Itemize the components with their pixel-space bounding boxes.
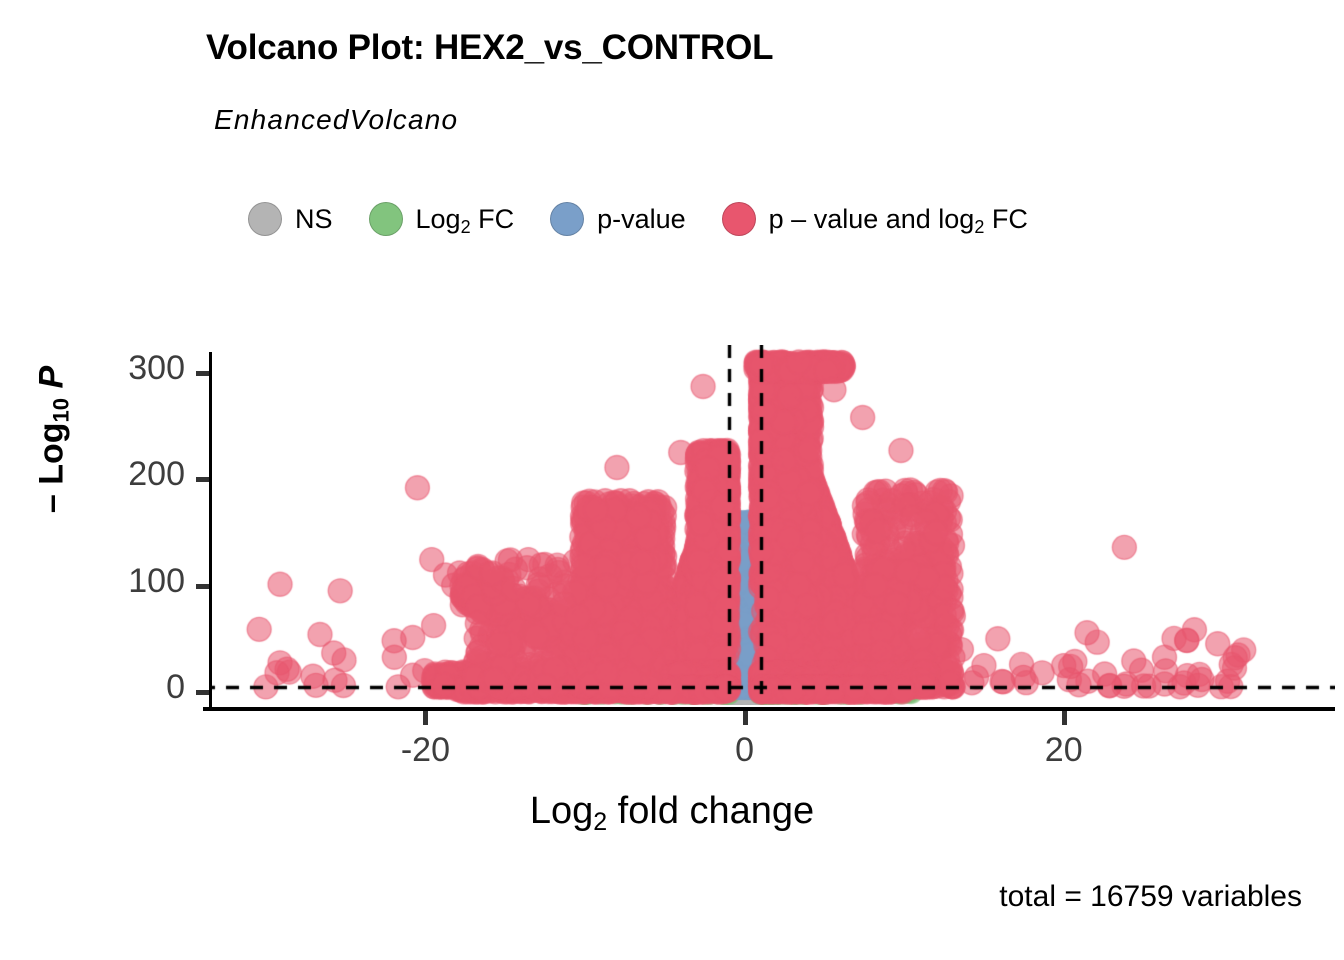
x-axis-label: Log2 fold change [0,790,1344,833]
x-tick-0 [743,711,748,725]
x-tick-label--20: -20 [401,731,450,770]
legend-log2fc[interactable]: Log2 FC [369,202,551,236]
legend-pvalue-swatch [550,202,584,236]
legend-ns[interactable]: NS [248,202,369,236]
legend-ns-swatch [248,202,282,236]
x-axis-line [203,707,1335,711]
x-tick-20 [1062,711,1067,725]
legend-log2fc-label: Log2 FC [416,206,515,233]
x-tick-label-20: 20 [1045,731,1083,770]
x-axis-label-text: Log2 fold change [530,790,814,832]
y-tick-100 [196,584,209,589]
y-tick-300 [196,371,209,376]
y-axis-line [209,352,212,709]
legend-pvalue[interactable]: p-value [550,202,722,236]
x-tick-label-0: 0 [735,731,754,770]
y-tick-label-200: 200 [60,455,185,494]
legend-log2fc-swatch [369,202,403,236]
x-tick--20 [423,711,428,725]
plot-legend: NSLog2 FCp-valuep – value and log2 FC [248,202,1064,236]
plot-caption: total = 16759 variables [999,880,1302,914]
y-axis-label: – Log10 P [33,330,72,550]
y-tick-200 [196,477,209,482]
y-tick-label-100: 100 [60,562,185,601]
y-tick-0 [196,690,209,695]
y-tick-label-0: 0 [60,668,185,707]
legend-pvalue-label: p-value [597,206,686,233]
page-title: Volcano Plot: HEX2_vs_CONTROL [206,28,773,68]
legend-pvalue-and-log2fc-swatch [722,202,756,236]
plot-subtitle: EnhancedVolcano [214,104,458,136]
legend-pvalue-and-log2fc[interactable]: p – value and log2 FC [722,202,1064,236]
legend-pvalue-and-log2fc-label: p – value and log2 FC [769,206,1028,233]
volcano-scatter-canvas [210,345,1335,705]
volcano-plot-figure: Volcano Plot: HEX2_vs_CONTROL EnhancedVo… [0,0,1344,960]
y-tick-label-300: 300 [60,349,185,388]
y-axis-label-text: – Log10 P [33,366,71,513]
legend-ns-label: NS [295,206,333,233]
